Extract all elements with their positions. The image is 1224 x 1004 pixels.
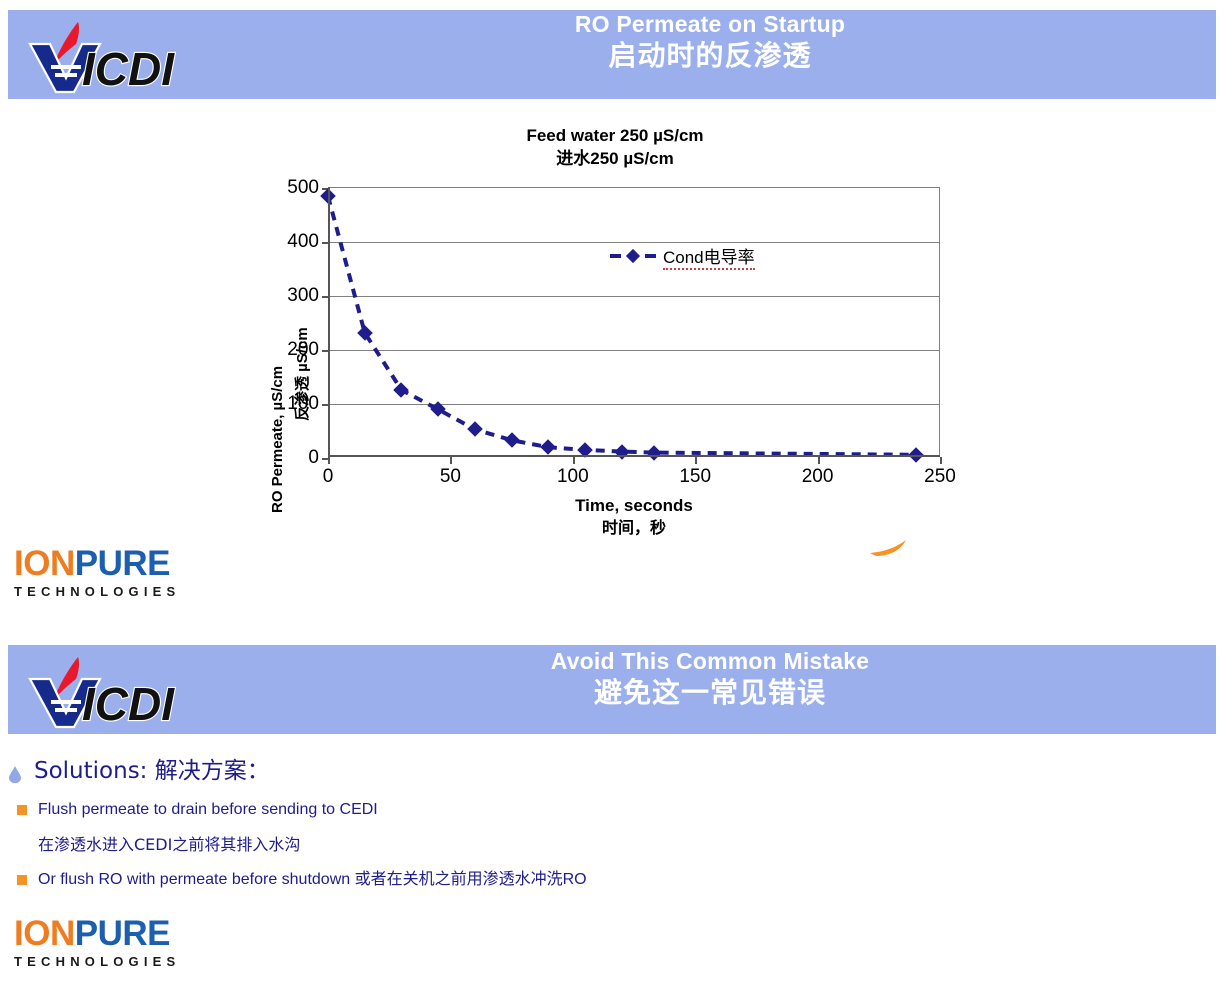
- y-axis-line: [328, 187, 330, 457]
- series-line: [328, 188, 940, 458]
- x-axis-label-en: Time, seconds: [328, 495, 940, 517]
- ionpure-wordmark: IONPURE: [14, 545, 244, 583]
- bullet-text: Or flush RO with permeate before shutdow…: [38, 871, 587, 888]
- x-tick-label: 200: [788, 466, 848, 488]
- chart-title: Feed water 250 µS/cm 进水250 µS/cm: [270, 125, 960, 170]
- plot-area-wrapper: 0100200300400500050100150200250: [328, 187, 940, 457]
- ionpure-tagline: TECHNOLOGIES: [14, 953, 244, 971]
- ro-permeate-chart: Feed water 250 µS/cm 进水250 µS/cm RO Perm…: [270, 125, 960, 555]
- chart-title-en: Feed water 250 µS/cm: [270, 125, 960, 147]
- x-tick-mark: [818, 457, 820, 464]
- x-tick-label: 150: [665, 466, 725, 488]
- y-tick-label: 200: [259, 339, 319, 361]
- bullet-text: 在渗透水进入CEDI之前将其排入水沟: [38, 835, 300, 854]
- y-tick-label: 400: [259, 231, 319, 253]
- ionpure-pure: PURE: [75, 544, 170, 583]
- bullet-level-2: Or flush RO with permeate before shutdow…: [0, 868, 1150, 892]
- legend-label-text: Cond电导率: [663, 248, 755, 270]
- bullet-list: Solutions: 解决方案：Flush permeate to drain …: [0, 755, 1150, 903]
- y-axis-label-en: RO Permeate, µS/cm: [269, 366, 286, 513]
- x-axis-line: [328, 455, 940, 457]
- y-tick-label: 100: [259, 393, 319, 415]
- x-axis-label-zh: 时间，秒: [328, 517, 940, 540]
- y-tick-label: 300: [259, 285, 319, 307]
- x-tick-label: 100: [543, 466, 603, 488]
- bullet-level-2: Flush permeate to drain before sending t…: [0, 798, 1150, 822]
- chart-title-zh: 进水250 µS/cm: [270, 147, 960, 170]
- square-bullet-icon: [17, 805, 27, 815]
- legend-line-segment: [610, 254, 621, 258]
- bullet-level-1: Solutions: 解决方案：: [0, 755, 1150, 786]
- ionpure-wordmark: IONPURE: [14, 915, 244, 953]
- orange-swoosh-artifact: [868, 537, 914, 559]
- legend-diamond-marker: [626, 248, 640, 262]
- icdi-logo: ICDI: [20, 653, 200, 729]
- square-bullet-icon: [17, 875, 27, 885]
- ionpure-pure: PURE: [75, 914, 170, 953]
- bullet-text: Flush permeate to drain before sending t…: [38, 801, 378, 818]
- x-tick-label: 250: [910, 466, 970, 488]
- bullet-level-3: 在渗透水进入CEDI之前将其排入水沟: [0, 833, 1150, 857]
- x-tick-label: 50: [420, 466, 480, 488]
- x-tick-mark: [450, 457, 452, 464]
- x-tick-mark: [695, 457, 697, 464]
- x-tick-mark: [328, 457, 330, 464]
- ionpure-tagline: TECHNOLOGIES: [14, 583, 244, 601]
- x-tick-label: 0: [298, 466, 358, 488]
- plot-area: 0100200300400500050100150200250: [328, 187, 940, 457]
- svg-text:ICDI: ICDI: [82, 43, 175, 94]
- bullet-text: Solutions: 解决方案：: [34, 758, 270, 784]
- x-tick-mark: [573, 457, 575, 464]
- legend-label: Cond电导率: [663, 243, 755, 268]
- chart-legend: Cond电导率: [610, 243, 755, 268]
- ionpure-ion: ION: [14, 544, 75, 583]
- slide-avoid-this-common-mistake: ICDI Avoid This Common Mistake 避免这一常见错误 …: [0, 637, 1224, 1004]
- slide-ro-permeate-on-startup: ICDI RO Permeate on Startup 启动时的反渗透 Feed…: [0, 0, 1224, 624]
- x-tick-mark: [940, 457, 942, 464]
- x-axis-titles: Time, seconds 时间，秒: [328, 495, 940, 540]
- ionpure-logo: IONPURE TECHNOLOGIES: [14, 545, 244, 601]
- legend-line-segment: [645, 254, 656, 258]
- ionpure-ion: ION: [14, 914, 75, 953]
- y-tick-label: 500: [259, 177, 319, 199]
- svg-text:ICDI: ICDI: [82, 678, 175, 729]
- icdi-logo: ICDI: [20, 18, 200, 94]
- water-drop-icon: [9, 760, 21, 777]
- ionpure-logo: IONPURE TECHNOLOGIES: [14, 915, 244, 971]
- presentation-page: ICDI RO Permeate on Startup 启动时的反渗透 Feed…: [0, 0, 1224, 1004]
